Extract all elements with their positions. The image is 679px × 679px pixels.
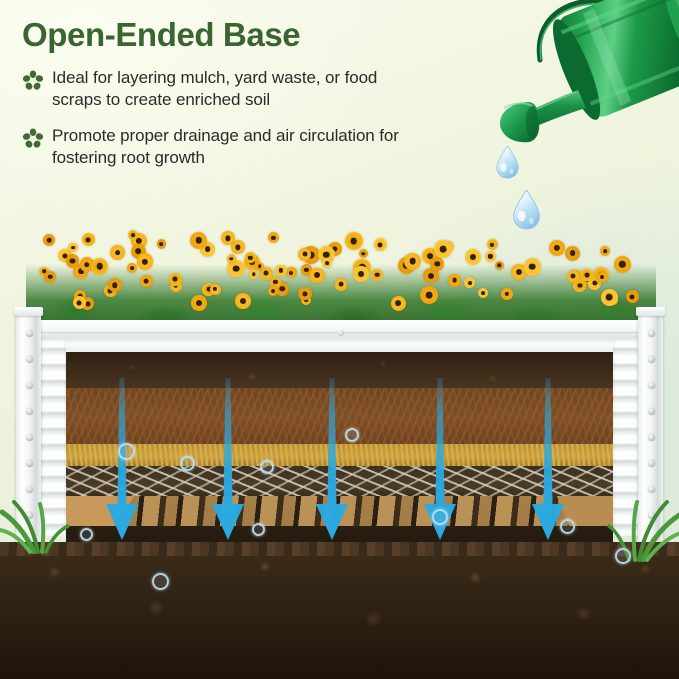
- air-bubble: [432, 509, 448, 525]
- air-bubble: [152, 573, 169, 590]
- post-screw: [648, 408, 655, 415]
- flower-bloom: [191, 295, 207, 311]
- drainage-arrow: [206, 378, 250, 563]
- flower-bloom: [434, 240, 452, 258]
- flower-bloom: [448, 274, 461, 287]
- air-bubble: [615, 548, 631, 564]
- flower-bloom: [374, 238, 387, 251]
- rail-screw: [338, 330, 344, 336]
- list-item-label: Promote proper drainage and air circulat…: [52, 125, 424, 170]
- product-infographic-canvas: Open-Ended Base Ideal for: [0, 0, 679, 679]
- flower-bloom: [140, 275, 153, 288]
- flower-bloom: [485, 251, 496, 262]
- flower-bloom: [137, 253, 153, 269]
- air-bubble: [560, 519, 575, 534]
- flower-bloom: [73, 296, 86, 309]
- flower-bloom: [614, 256, 631, 273]
- flower-bloom: [286, 267, 297, 278]
- flower-bloom: [227, 254, 236, 263]
- flower-bloom: [127, 263, 137, 273]
- flower-bloom: [420, 286, 438, 304]
- flower-bloom: [43, 234, 55, 246]
- flower-bloom: [157, 239, 167, 249]
- flower-bloom: [275, 265, 286, 276]
- air-bubble: [345, 428, 359, 442]
- post-screw: [26, 330, 33, 337]
- list-item: Ideal for layering mulch, yard waste, or…: [22, 67, 470, 112]
- flower-bloom: [626, 290, 639, 303]
- clover-bullet-icon: [22, 70, 44, 92]
- raised-bed-scene: [0, 228, 679, 679]
- flower-bloom: [501, 288, 512, 299]
- post-screw: [648, 434, 655, 441]
- air-bubble: [118, 443, 135, 460]
- flower-bloom: [549, 240, 565, 256]
- post-screw: [26, 382, 33, 389]
- post-screw: [648, 460, 655, 467]
- flower-bloom: [524, 258, 542, 276]
- flower-bloom: [487, 239, 498, 250]
- header-block: Open-Ended Base Ideal for: [0, 0, 470, 183]
- flower-bloom: [359, 249, 368, 258]
- flower-bloom: [600, 246, 610, 256]
- list-item: Promote proper drainage and air circulat…: [22, 125, 470, 170]
- grass-tuft-left: [0, 484, 70, 559]
- air-bubble: [252, 523, 265, 536]
- post-screw: [26, 408, 33, 415]
- flower-bloom: [298, 287, 311, 300]
- flower-bloom: [190, 232, 207, 249]
- drainage-arrow: [310, 378, 354, 563]
- flower-bloom: [44, 271, 56, 283]
- feature-bullet-list: Ideal for layering mulch, yard waste, or…: [22, 67, 470, 170]
- flower-bloom: [565, 246, 580, 261]
- post-screw: [26, 356, 33, 363]
- flower-bloom: [82, 233, 95, 246]
- drainage-arrow: [418, 378, 462, 563]
- post-screw: [648, 382, 655, 389]
- post-screw: [648, 356, 655, 363]
- flower-bloom: [110, 245, 125, 260]
- flower-bloom: [169, 273, 182, 286]
- post-screw: [26, 434, 33, 441]
- flower-bloom: [353, 266, 369, 282]
- drainage-arrow: [526, 378, 570, 563]
- post-screw: [648, 330, 655, 337]
- water-droplet-1: [494, 145, 521, 184]
- flower-bloom: [235, 293, 251, 309]
- air-bubble: [260, 460, 274, 474]
- flower-bloom: [345, 232, 363, 250]
- post-screw: [26, 460, 33, 467]
- flower-bloom: [309, 268, 325, 284]
- flower-bloom: [249, 270, 258, 279]
- rudbeckia-flower-bed: [26, 228, 656, 330]
- flower-bloom: [210, 284, 221, 295]
- drainage-arrow: [100, 378, 144, 563]
- flower-bloom: [430, 257, 444, 271]
- air-bubble: [180, 456, 195, 471]
- flower-bloom: [91, 258, 108, 275]
- flower-bloom: [268, 232, 279, 243]
- flower-bloom: [495, 261, 504, 270]
- flower-bloom: [371, 269, 383, 281]
- post-cap: [636, 307, 665, 316]
- post-cap: [14, 307, 43, 316]
- list-item-label: Ideal for layering mulch, yard waste, or…: [52, 67, 424, 112]
- flower-bloom: [66, 254, 79, 267]
- top-rail: [30, 320, 651, 353]
- flower-bloom: [597, 272, 607, 282]
- clover-bullet-icon: [22, 128, 44, 150]
- flower-bloom: [478, 288, 488, 298]
- flower-bloom: [464, 277, 474, 287]
- page-title: Open-Ended Base: [22, 18, 470, 53]
- flower-bloom: [68, 243, 78, 253]
- flower-bloom: [465, 249, 481, 265]
- air-bubble: [80, 528, 93, 541]
- flower-bloom: [335, 278, 348, 291]
